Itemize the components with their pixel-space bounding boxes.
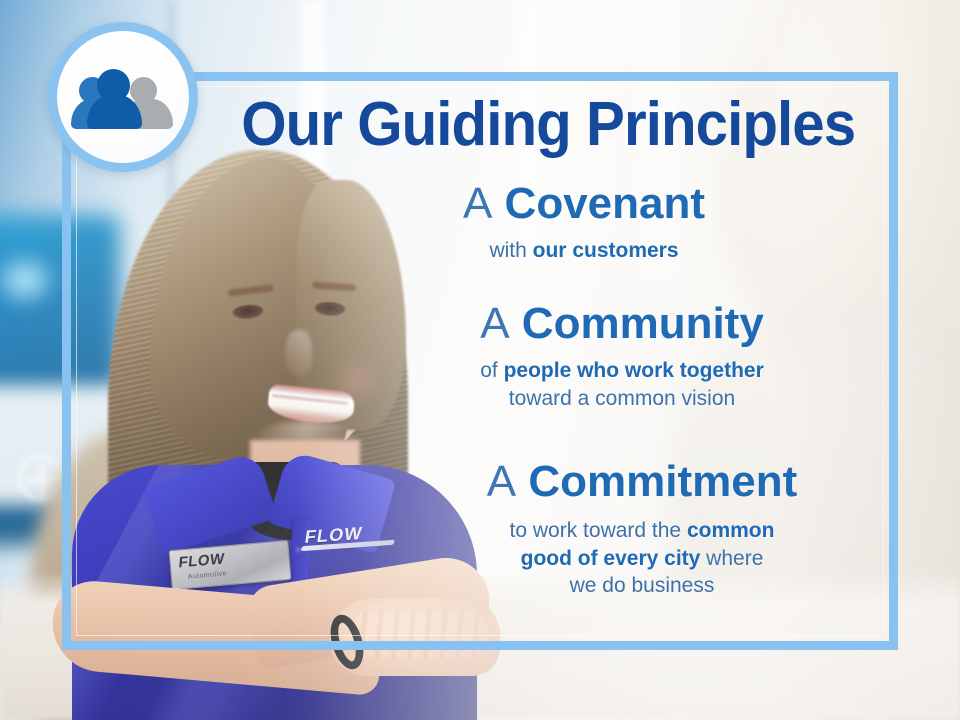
principle-word: Covenant [505,179,705,228]
subtext-emphasis: our customers [533,239,679,262]
principle-subtext-line: good of every city where [392,545,892,573]
principle-headline: A Community [362,302,882,347]
subtext-plain: we do business [570,574,715,597]
principle-article: A [463,179,492,228]
page-title: Our Guiding Principles [241,94,843,156]
subtext-plain: toward a common vision [509,387,735,410]
poster-content: Our Guiding Principles A Covenant with o… [62,72,898,650]
principle-headline: A Commitment [392,460,892,505]
principle-subtext: with our customers [294,237,874,265]
principle-subtext-line: of people who work together [362,357,882,385]
subtext-emphasis: good of every city [521,547,701,570]
principle-article: A [487,457,516,506]
subtext-plain: of [480,359,503,382]
subtext-plain: to work toward the [510,519,687,542]
poster-canvas: FLOW FLOW Automotive [0,0,960,720]
principle-word: Commitment [528,457,797,506]
subtext-plain: with [489,239,532,262]
principle-block-covenant: A Covenant with our customers [294,182,874,265]
principle-subtext-line: with our customers [294,237,874,265]
principle-block-commitment: A Commitment to work toward the common g… [392,460,892,600]
principle-headline: A Covenant [294,182,874,227]
principle-subtext-line: to work toward the common [392,517,892,545]
subtext-emphasis: people who work together [504,359,764,382]
principle-block-community: A Community of people who work together … [362,302,882,412]
principle-subtext-line: toward a common vision [362,385,882,413]
principle-subtext: to work toward the common good of every … [392,517,892,600]
principle-word: Community [522,299,764,348]
principle-subtext-line: we do business [392,572,892,600]
principle-subtext: of people who work together toward a com… [362,357,882,412]
principle-article: A [480,299,509,348]
subtext-plain: where [700,547,763,570]
subtext-emphasis: common [687,519,775,542]
